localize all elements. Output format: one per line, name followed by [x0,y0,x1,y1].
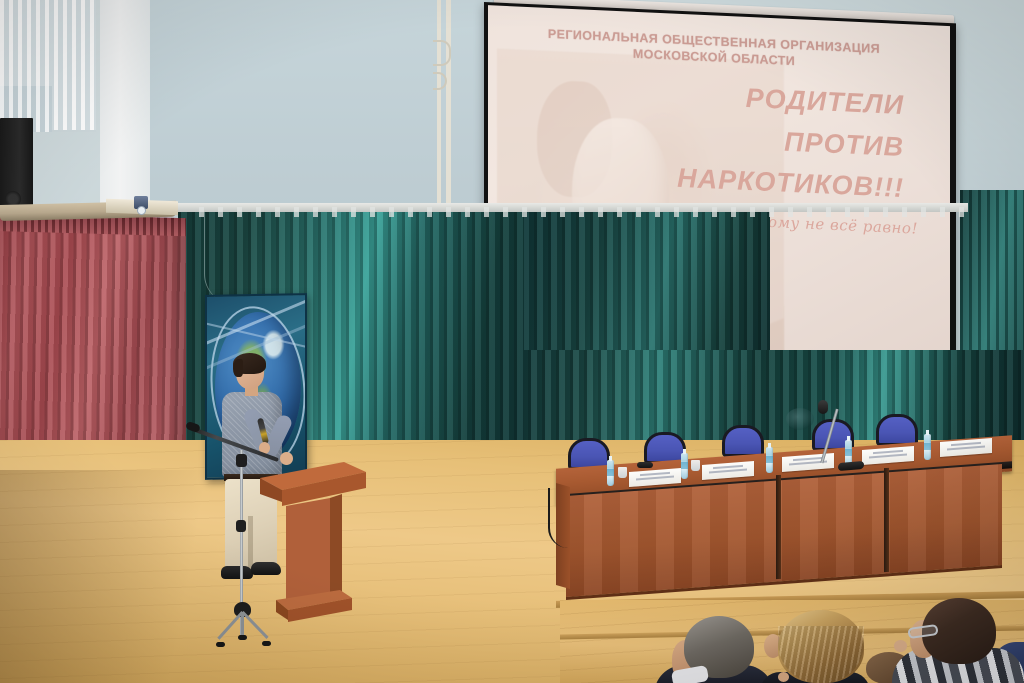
curtain-rings [185,207,965,217]
name-card-line [709,469,747,474]
drinking-glass [691,460,700,471]
slide-headline-word-3: НАРКОТИКОВ!!! [488,156,904,202]
name-card-line [869,454,907,459]
presenter-hair-side [233,359,243,377]
name-card-line [947,446,985,451]
curtain-cord [204,212,238,304]
water-bottle [607,460,614,486]
wall-loudspeaker [0,118,33,215]
floor-cable [548,488,570,548]
pipe-clamp-icon [433,40,451,66]
mic-stand-knob [236,520,246,532]
lectern-column [286,498,330,602]
wooden-lectern [248,450,368,640]
wall-pillar [100,0,150,216]
mic-stand-clamp [236,454,247,467]
audience-hand [894,640,907,652]
chair-backrest [876,414,918,446]
wall-conduit-pipe-2 [446,0,451,210]
slide-headline-word-2: ПРОТИВ [488,115,904,161]
audience-hand [778,672,789,682]
drinking-glass [618,467,627,478]
auditorium-photo: РЕГИОНАЛЬНАЯ ОБЩЕСТВЕННАЯ ОРГАНИЗАЦИЯ МО… [0,0,1024,683]
slide-headline: РОДИТЕЛИ ПРОТИВ НАРКОТИКОВ!!! [488,73,940,204]
lectern-column-side [330,494,342,596]
water-bottle [681,453,688,479]
mic-stand-foot [262,641,271,646]
table-object [637,462,653,468]
mic-stand-foot [238,635,247,640]
chair-backrest [722,425,764,457]
name-card-line [636,476,674,481]
table-section-seam [884,468,889,572]
microphone-head-icon [818,400,828,414]
water-bottle [766,447,773,473]
table-section-seam [776,475,781,579]
wall-fixture [786,408,814,430]
mic-stand-foot [216,642,225,647]
water-bottle [924,434,931,460]
slide-headline-word-1: РОДИТЕЛИ [488,73,904,119]
slide-organisation-heading: РЕГИОНАЛЬНАЯ ОБЩЕСТВЕННАЯ ОРГАНИЗАЦИЯ МО… [488,23,940,76]
shelf-device [134,196,148,209]
wall-conduit-pipe [437,0,441,210]
